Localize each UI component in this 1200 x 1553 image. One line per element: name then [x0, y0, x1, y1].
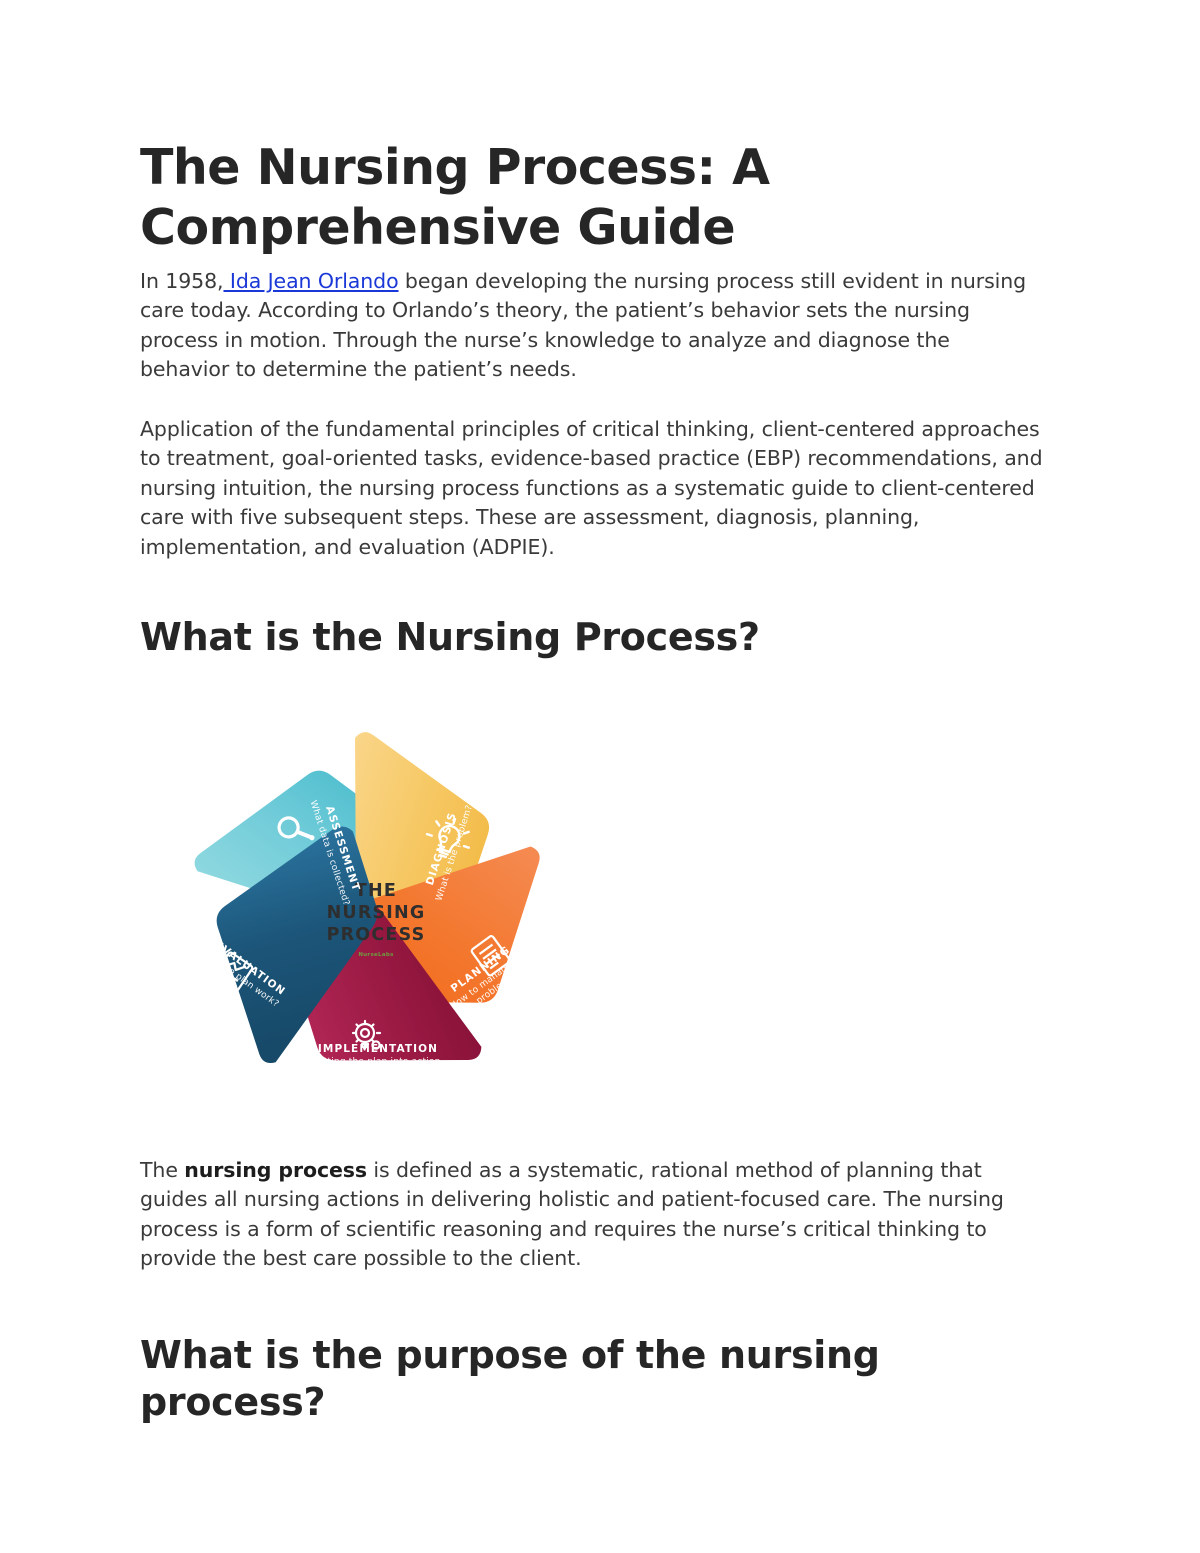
nursing-process-pentagon-diagram	[158, 708, 578, 1118]
intro-paragraph: In 1958, Ida Jean Orlando began developi…	[140, 267, 1045, 385]
heading-spacer-top	[140, 562, 1045, 614]
document-page: The Nursing Process: A Comprehensive Gui…	[0, 0, 1200, 1553]
document-body: The Nursing Process: A Comprehensive Gui…	[140, 138, 1045, 1427]
nursing-process-figure: THE NURSING PROCESS NurseLabs ASSESSMENT…	[158, 708, 578, 1118]
nursing-process-bold: nursing process	[184, 1158, 367, 1182]
definition-part-1: The	[140, 1158, 184, 1182]
heading-2-spacer	[140, 1274, 1045, 1332]
ida-jean-orlando-link[interactable]: Ida Jean Orlando	[223, 269, 398, 293]
page-title: The Nursing Process: A Comprehensive Gui…	[140, 138, 1000, 259]
heading-spacer-bottom	[140, 662, 1045, 708]
application-paragraph: Application of the fundamental principle…	[140, 415, 1045, 563]
heading-purpose-of-nursing-process: What is the purpose of the nursing proce…	[140, 1332, 1045, 1427]
definition-paragraph: The nursing process is defined as a syst…	[140, 1156, 1045, 1274]
intro-pre-link-text: In 1958,	[140, 269, 223, 293]
figure-spacer	[140, 1118, 1045, 1156]
heading-what-is-nursing-process: What is the Nursing Process?	[140, 614, 1045, 662]
paragraph-spacer	[140, 385, 1045, 415]
